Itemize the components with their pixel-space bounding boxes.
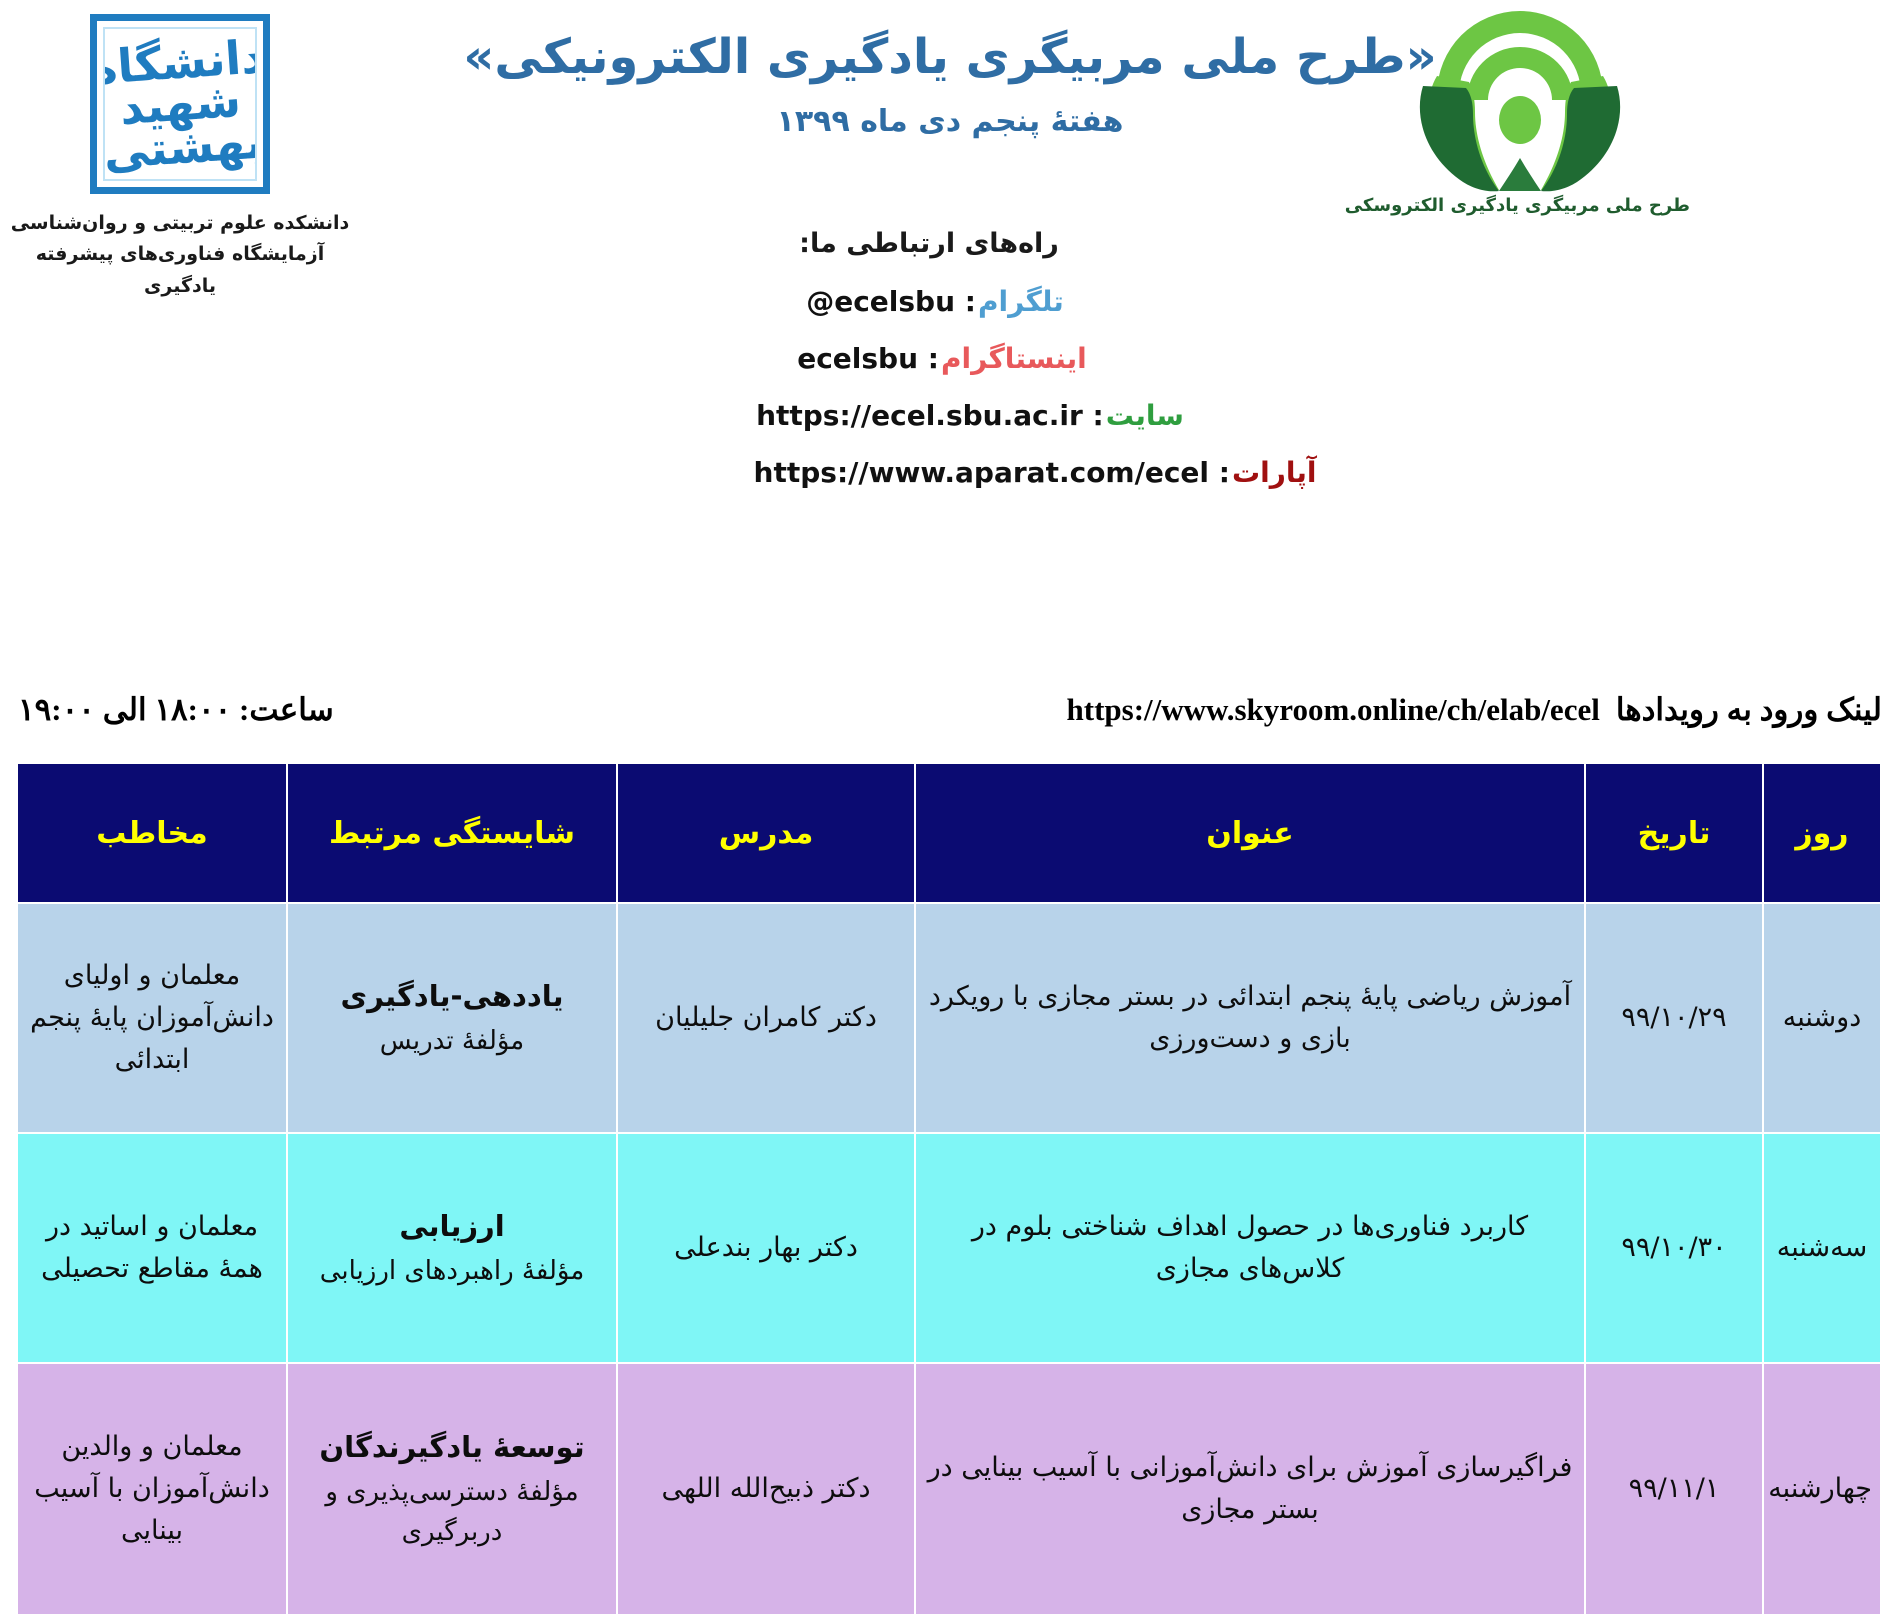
project-logo-block: طرح ملی مربیگری یادگیری الکتروسکی xyxy=(1350,8,1690,216)
cell-date: ۹۹/۱۰/۳۰ xyxy=(1585,1133,1763,1363)
contact-label-telegram: تلگرام xyxy=(978,285,1064,318)
cell-title: فراگیرسازی آموزش برای دانش‌آموزانی با آس… xyxy=(915,1363,1585,1615)
colon-separator: : xyxy=(1209,456,1230,489)
column-header-date: تاریخ xyxy=(1585,763,1763,903)
contact-heading: راه‌های ارتباطی ما: xyxy=(0,228,1900,259)
cell-competency: توسعهٔ یادگیرندگان مؤلفهٔ دسترسی‌پذیری و… xyxy=(287,1363,617,1615)
cell-competency: ارزیابی مؤلفهٔ راهبردهای ارزیابی xyxy=(287,1133,617,1363)
contact-row-instagram: اینستاگرام: ecelsbu xyxy=(0,342,1900,375)
column-header-audience: مخاطب xyxy=(17,763,287,903)
cell-audience: معلمان و اساتید در همهٔ مقاطع تحصیلی xyxy=(17,1133,287,1363)
contact-value-telegram[interactable]: @ecelsbu xyxy=(806,285,955,318)
cell-date: ۹۹/۱۰/۲۹ xyxy=(1585,903,1763,1133)
contact-block: راه‌های ارتباطی ما: تلگرام: @ecelsbu این… xyxy=(0,228,1900,513)
competency-main: ارزیابی xyxy=(296,1204,608,1249)
schedule-table-wrapper: روز تاریخ عنوان مدرس شایستگی مرتبط مخاطب… xyxy=(18,762,1882,1616)
cell-day: دوشنبه xyxy=(1763,903,1881,1133)
events-link-url[interactable]: https://www.skyroom.online/ch/elab/ecel xyxy=(1067,692,1600,728)
column-header-competency: شایستگی مرتبط xyxy=(287,763,617,903)
schedule-table: روز تاریخ عنوان مدرس شایستگی مرتبط مخاطب… xyxy=(16,762,1882,1616)
colon-separator: : xyxy=(918,342,939,375)
ecel-broadcast-hands-logo-icon xyxy=(1415,8,1625,193)
column-header-instructor: مدرس xyxy=(617,763,915,903)
university-logo-calligraphy: دانشگاه شهید بهشتی xyxy=(103,35,257,174)
contact-label-site: سایت xyxy=(1106,399,1184,432)
table-row: دوشنبه ۹۹/۱۰/۲۹ آموزش ریاضی پایهٔ پنجم ا… xyxy=(17,903,1881,1133)
competency-sub: مؤلفهٔ راهبردهای ارزیابی xyxy=(296,1251,608,1291)
colon-separator: : xyxy=(1083,399,1104,432)
cell-instructor: دکتر بهار بندعلی xyxy=(617,1133,915,1363)
project-logo-caption: طرح ملی مربیگری یادگیری الکتروسکی xyxy=(1350,195,1690,216)
cell-day: سه‌شنبه xyxy=(1763,1133,1881,1363)
contact-value-site[interactable]: https://ecel.sbu.ac.ir xyxy=(756,399,1083,432)
colon-separator: : xyxy=(955,285,976,318)
competency-sub: مؤلفهٔ دسترسی‌پذیری و دربرگیری xyxy=(296,1472,608,1553)
cell-competency: یاددهی-یادگیری مؤلفهٔ تدریس xyxy=(287,903,617,1133)
cell-instructor: دکتر کامران جلیلیان xyxy=(617,903,915,1133)
events-link-label: لینک ورود به رویدادها xyxy=(1616,692,1882,728)
cell-date: ۹۹/۱۱/۱ xyxy=(1585,1363,1763,1615)
contact-row-telegram: تلگرام: @ecelsbu xyxy=(0,285,1900,318)
shahid-beheshti-university-logo-icon: دانشگاه شهید بهشتی xyxy=(90,14,270,194)
cell-audience: معلمان و والدین دانش‌آموزان با آسیب بینا… xyxy=(17,1363,287,1615)
contact-value-aparat[interactable]: https://www.aparat.com/ecel xyxy=(754,456,1209,489)
contact-label-aparat: آپارات xyxy=(1232,456,1316,489)
contact-row-site: سایت: https://ecel.sbu.ac.ir xyxy=(0,399,1900,432)
competency-main: توسعهٔ یادگیرندگان xyxy=(296,1425,608,1470)
table-row: سه‌شنبه ۹۹/۱۰/۳۰ کاربرد فناوری‌ها در حصو… xyxy=(17,1133,1881,1363)
column-header-title: عنوان xyxy=(915,763,1585,903)
competency-sub: مؤلفهٔ تدریس xyxy=(296,1021,608,1061)
cell-instructor: دکتر ذبیح‌الله اللهی xyxy=(617,1363,915,1615)
competency-main: یاددهی-یادگیری xyxy=(296,974,608,1019)
cell-title: کاربرد فناوری‌ها در حصول اهداف شناختی بل… xyxy=(915,1133,1585,1363)
contact-value-instagram[interactable]: ecelsbu xyxy=(797,342,918,375)
contact-label-instagram: اینستاگرام xyxy=(941,342,1087,375)
link-and-time-bar: لینک ورود به رویدادها https://www.skyroo… xyxy=(0,692,1900,748)
table-header-row: روز تاریخ عنوان مدرس شایستگی مرتبط مخاطب xyxy=(17,763,1881,903)
cell-day: چهارشنبه xyxy=(1763,1363,1881,1615)
cell-audience: معلمان و اولیای دانش‌آموزان پایهٔ پنجم ا… xyxy=(17,903,287,1133)
column-header-day: روز xyxy=(1763,763,1881,903)
session-time-label: ساعت: ۱۸:۰۰ الی ۱۹:۰۰ xyxy=(18,692,334,728)
contact-row-aparat: آپارات: https://www.aparat.com/ecel xyxy=(0,456,1900,489)
cell-title: آموزش ریاضی پایهٔ پنجم ابتدائی در بستر م… xyxy=(915,903,1585,1133)
table-row: چهارشنبه ۹۹/۱۱/۱ فراگیرسازی آموزش برای د… xyxy=(17,1363,1881,1615)
